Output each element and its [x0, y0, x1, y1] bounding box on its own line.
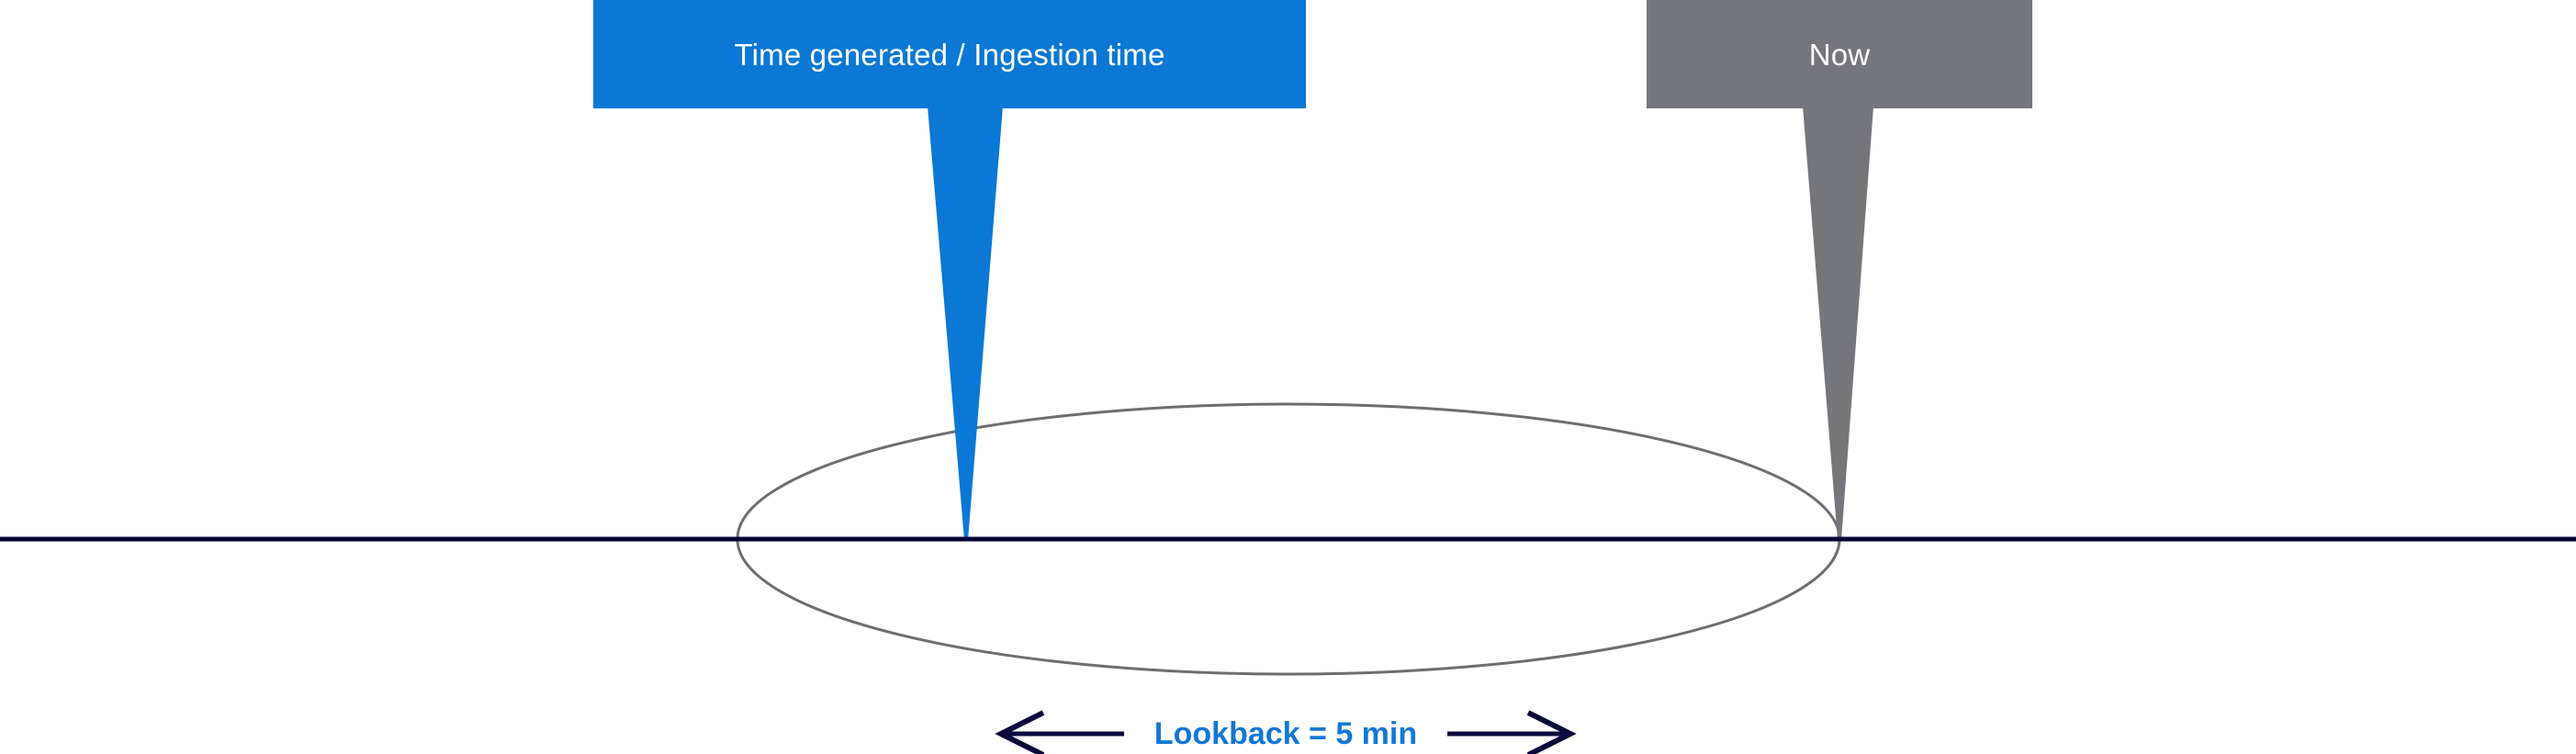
time-generated-pointer-icon [928, 107, 1003, 540]
callout-label-now: Now [1647, 0, 2032, 108]
lookback-measure-caption: Lookback = 5 min [1124, 713, 1447, 754]
callout-label-time-generated-text: Time generated / Ingestion time [734, 39, 1164, 70]
diagram-canvas: Time generated / Ingestion time Now Look… [0, 0, 2576, 754]
now-pointer-icon [1803, 107, 1873, 540]
lookback-measure-caption-text: Lookback = 5 min [1154, 718, 1417, 749]
callout-label-now-text: Now [1809, 39, 1871, 70]
callout-label-time-generated: Time generated / Ingestion time [593, 0, 1306, 108]
diagram-vector-layer [0, 0, 2576, 754]
